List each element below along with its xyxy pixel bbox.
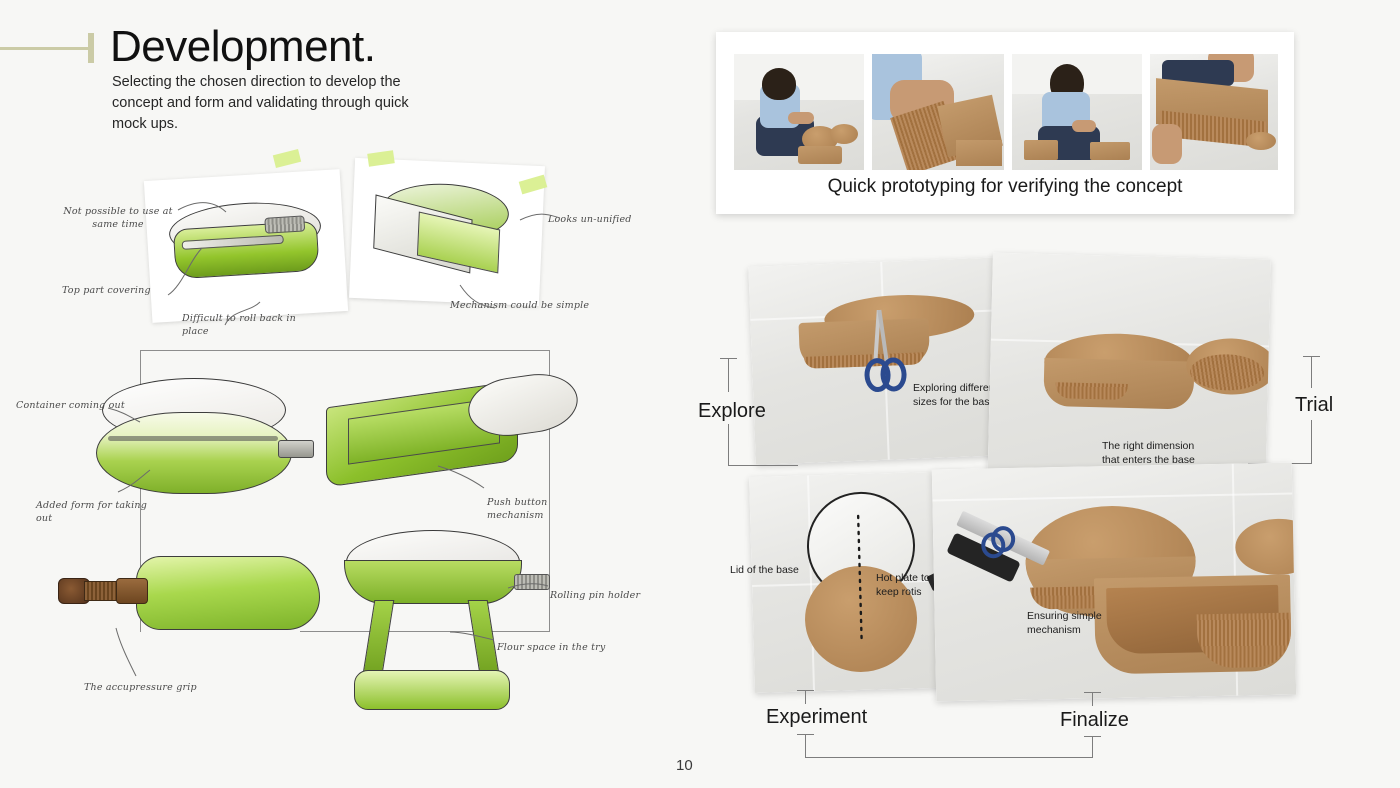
bracket-trial-top bbox=[1311, 356, 1312, 388]
bracket-trial-bottom bbox=[1311, 420, 1312, 464]
bracket-explore-bottom-elbow bbox=[728, 465, 798, 466]
header-accent-line bbox=[0, 47, 88, 50]
stage-photo-finalize bbox=[932, 463, 1296, 702]
stage-annotation: Lid of the base bbox=[730, 564, 826, 578]
stage-label-finalize: Finalize bbox=[1060, 709, 1129, 732]
stage-label-trial: Trial bbox=[1295, 394, 1333, 417]
stage-photo-explore bbox=[748, 257, 1009, 465]
tape-strip bbox=[273, 149, 301, 168]
stage-annotation: Ensuring simple mechanism bbox=[1027, 610, 1115, 637]
stage-label-explore: Explore bbox=[698, 400, 766, 423]
prototype-strip-caption: Quick prototyping for verifying the conc… bbox=[716, 176, 1294, 198]
stage-label-experiment: Experiment bbox=[766, 706, 867, 729]
bracket-experiment-top bbox=[805, 690, 806, 704]
bracket-trial-top-tick bbox=[1303, 356, 1320, 357]
bracket-explore-top bbox=[728, 358, 729, 392]
bracket-experiment-bottom-tick bbox=[797, 734, 814, 735]
prototype-photo bbox=[734, 54, 864, 170]
bracket-experiment-bottom bbox=[805, 734, 806, 758]
bracket-finalize-top-tick bbox=[1084, 692, 1101, 693]
leader-lines-sketch-group bbox=[0, 360, 700, 720]
prototype-strip-card: Quick prototyping for verifying the conc… bbox=[716, 32, 1294, 214]
sketch-group-frame-top bbox=[140, 350, 550, 351]
scissors-icon bbox=[977, 514, 1012, 561]
portfolio-page: Development. Selecting the chosen direct… bbox=[0, 0, 1400, 788]
prototype-photo bbox=[872, 54, 1004, 170]
page-number: 10 bbox=[676, 757, 693, 774]
leader-lines-sketch-2 bbox=[400, 180, 660, 320]
header-accent-tick bbox=[88, 33, 94, 63]
prototype-photo bbox=[1012, 54, 1142, 170]
bracket-finalize-top bbox=[1092, 692, 1093, 706]
bracket-experiment-top-tick bbox=[797, 690, 814, 691]
bracket-explore-bottom bbox=[728, 424, 729, 466]
scissors-icon bbox=[862, 309, 899, 394]
stage-annotation: The right dimension that enters the base bbox=[1102, 440, 1214, 467]
bracket-finalize-bottom bbox=[1092, 736, 1093, 758]
prototype-photo bbox=[1150, 54, 1278, 170]
page-title: Development. bbox=[110, 22, 375, 72]
leader-lines-sketch-1 bbox=[50, 190, 370, 340]
bracket-explore-top-tick bbox=[720, 358, 737, 359]
page-subtitle: Selecting the chosen direction to develo… bbox=[112, 72, 447, 135]
bracket-bottom-connector bbox=[805, 757, 1093, 758]
bracket-finalize-bottom-tick bbox=[1084, 736, 1101, 737]
